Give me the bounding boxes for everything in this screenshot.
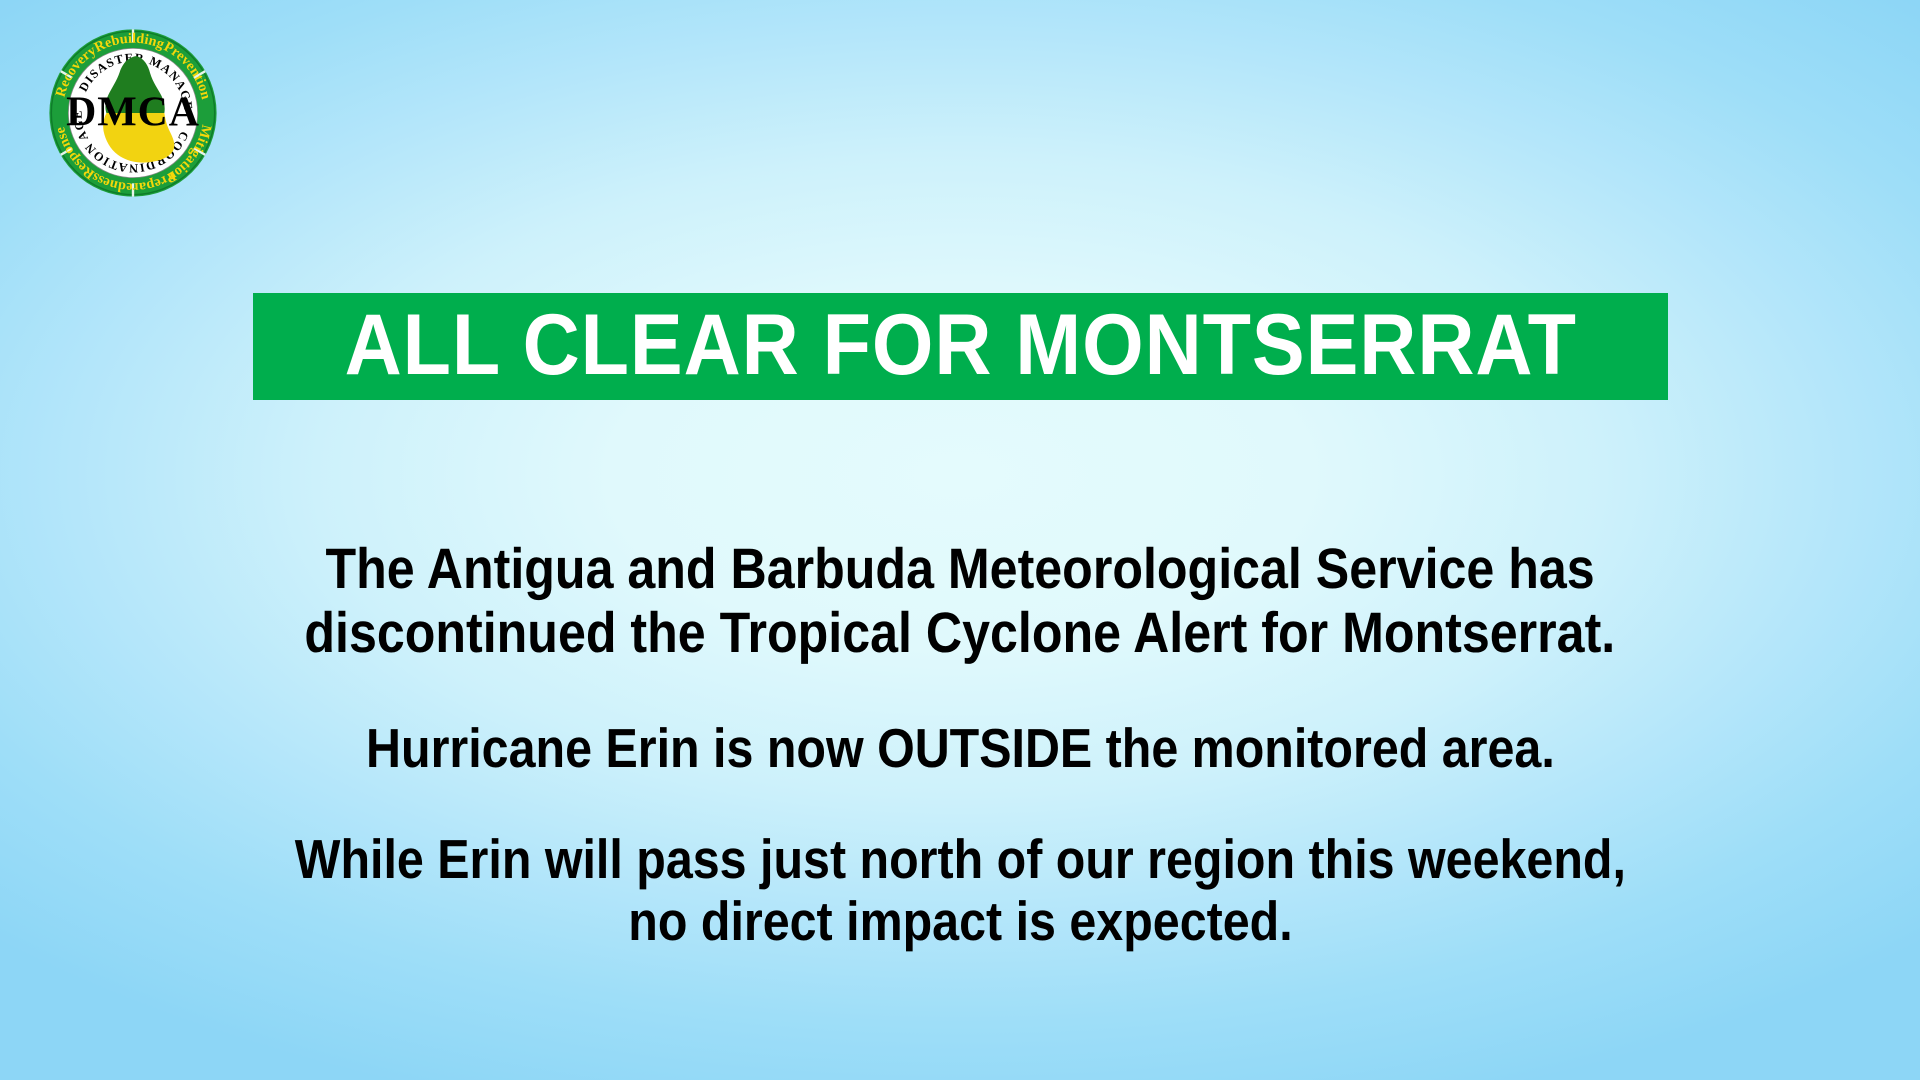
paragraph-3-line-2: no direct impact is expected.	[65, 891, 1855, 953]
paragraph-2: Hurricane Erin is now OUTSIDE the monito…	[100, 718, 1820, 780]
dmca-logo: Recovery Rebuilding Prevention Mitigatio…	[38, 18, 228, 208]
paragraph-1-line-1: The Antigua and Barbuda Meteorological S…	[100, 538, 1820, 602]
paragraph-2-line-1: Hurricane Erin is now OUTSIDE the monito…	[100, 718, 1820, 780]
paragraph-1: The Antigua and Barbuda Meteorological S…	[100, 538, 1820, 666]
paragraph-3: While Erin will pass just north of our r…	[65, 829, 1855, 952]
poster-canvas: Recovery Rebuilding Prevention Mitigatio…	[0, 0, 1920, 1080]
headline-title: ALL CLEAR FOR MONTSERRAT	[291, 302, 1630, 392]
paragraph-1-line-2: discontinued the Tropical Cyclone Alert …	[100, 602, 1820, 666]
paragraph-3-line-1: While Erin will pass just north of our r…	[65, 829, 1855, 891]
headline-title-text: ALL CLEAR FOR MONTSERRAT	[344, 302, 1576, 388]
dmca-logo-graphic: Recovery Rebuilding Prevention Mitigatio…	[38, 18, 228, 208]
logo-acronym: DMCA	[66, 89, 200, 135]
headline-banner: ALL CLEAR FOR MONTSERRAT	[253, 293, 1668, 400]
body-copy: The Antigua and Barbuda Meteorological S…	[0, 538, 1920, 952]
